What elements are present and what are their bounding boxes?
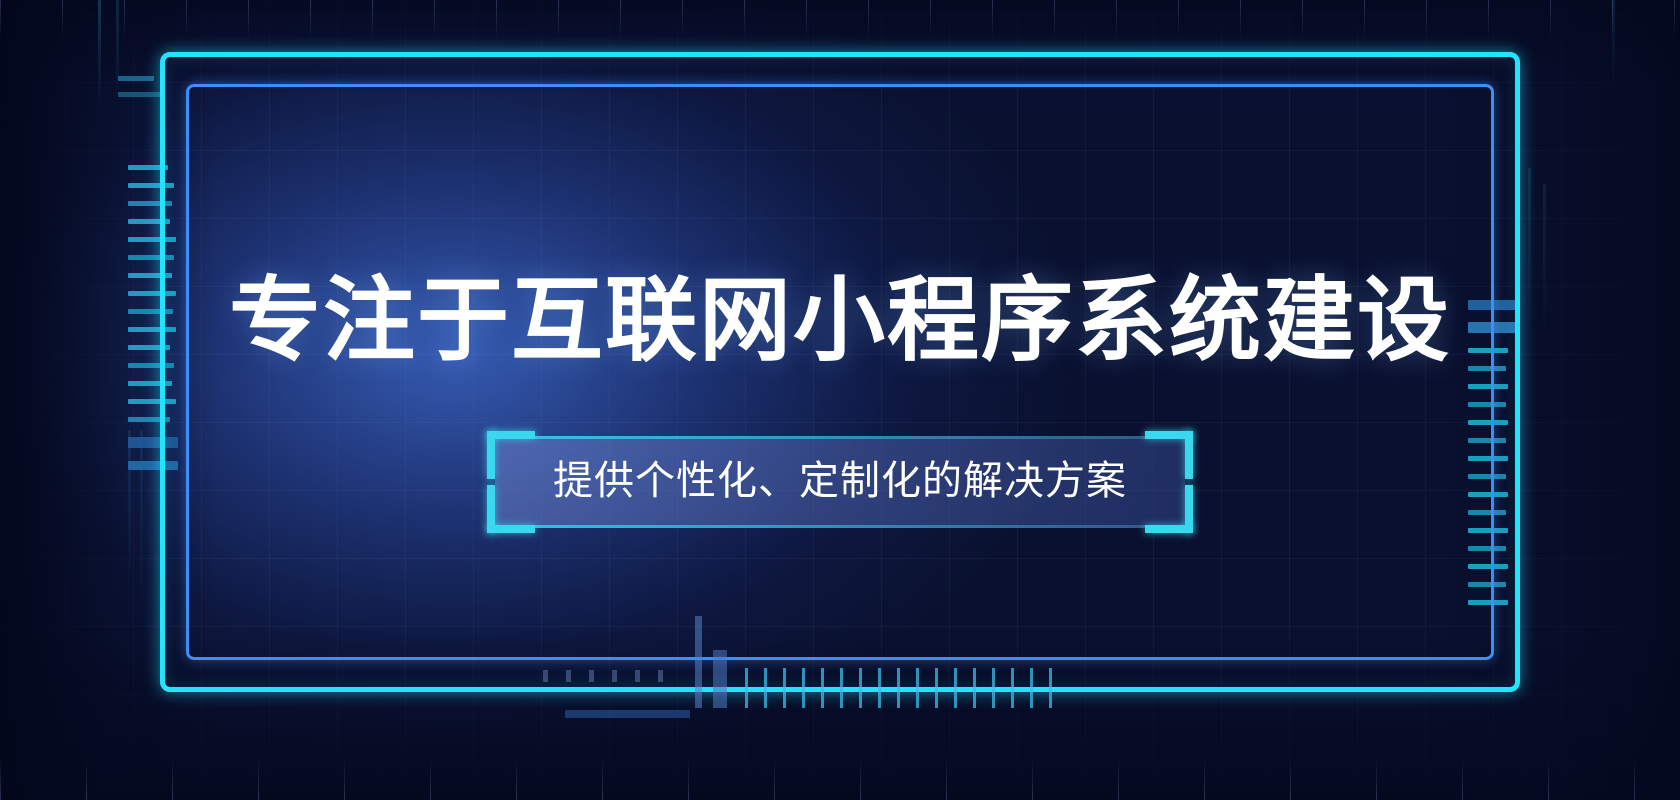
- hero-banner: 专注于互联网小程序系统建设 提供个性化、定制化的解决方案: [0, 0, 1680, 800]
- banner-content: 专注于互联网小程序系统建设 提供个性化、定制化的解决方案: [0, 0, 1680, 800]
- subtitle-text: 提供个性化、定制化的解决方案: [495, 439, 1185, 525]
- page-title: 专注于互联网小程序系统建设: [229, 275, 1451, 367]
- subtitle-container: 提供个性化、定制化的解决方案: [495, 439, 1185, 525]
